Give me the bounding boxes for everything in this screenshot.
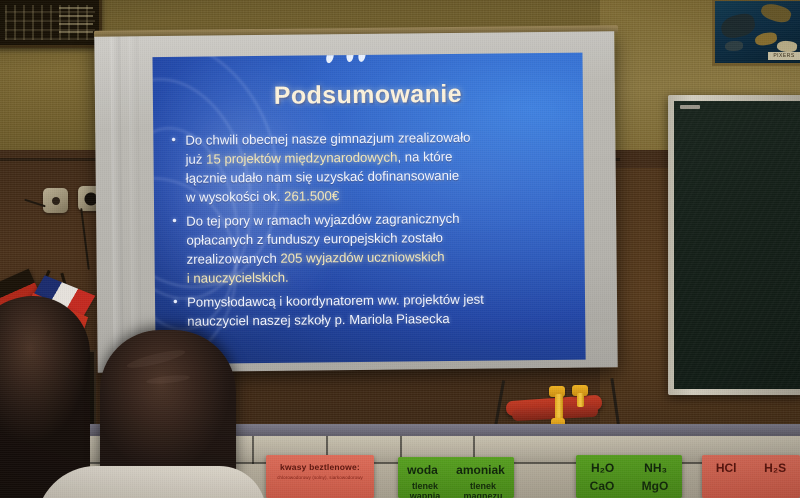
slide-plain-text: Do tej pory w ramach wyjazdów zagraniczn… <box>186 211 460 229</box>
poster-subheading: chlorowodorowy (solny), siarkowodorowy <box>266 472 374 480</box>
chalkboard-frame <box>668 95 800 395</box>
hair-highlight <box>146 374 190 386</box>
clamp-knob-stem <box>577 393 584 407</box>
slide-bullet-text: Do tej pory w ramach wyjazdów zagraniczn… <box>186 208 573 288</box>
person-head-left <box>0 296 90 498</box>
slide-highlight-text: i nauczycielskich. <box>187 270 289 286</box>
poster-compound-formulas: H₂O NH₃ CaO MgO <box>576 455 682 498</box>
projected-slide: Podsumowanie •Do chwili obecnej nasze gi… <box>152 53 585 364</box>
poster-row-2: CaO MgO <box>576 475 682 493</box>
slide-plain-text: już <box>185 152 206 167</box>
bullet-dot-icon: • <box>171 131 186 207</box>
bullet-dot-icon: • <box>173 293 187 331</box>
slide-highlight-text: 15 projektów międzynarodowych <box>206 150 397 167</box>
poster-row-1: HCl H₂S <box>702 455 800 475</box>
poster-cell: H₂S <box>764 461 786 475</box>
poster-cell: HCl <box>716 461 737 475</box>
poster-cell: tlenek magnezu <box>452 481 514 498</box>
slide-bullet-item: •Pomysłodawcą i koordynatorem ww. projek… <box>173 289 573 331</box>
periodic-table-board <box>0 0 102 48</box>
underwater-poster: PIXERS <box>712 0 800 66</box>
poster-acid-formulas: HCl H₂S <box>702 455 800 498</box>
slide-bullet-line: nauczyciel naszej szkoły p. Mariola Pias… <box>187 308 573 331</box>
poster-cell: woda <box>407 463 438 477</box>
poster-cell: tlenek wapnia <box>398 481 452 498</box>
fish-icon <box>719 12 757 41</box>
fish-icon <box>725 41 743 51</box>
poster-cell: CaO <box>590 479 615 493</box>
poster-row-1: woda amoniak <box>398 457 514 477</box>
slide-plain-text: Pomysłodawcą i koordynatorem ww. projekt… <box>187 292 484 310</box>
fish-icon <box>759 1 792 25</box>
slide-top-graphic <box>324 53 394 64</box>
slide-bullet-text: Do chwili obecnej nasze gimnazjum zreali… <box>185 127 572 207</box>
poster-heading: kwasy beztlenowe: <box>266 455 374 472</box>
hair-highlight <box>126 347 187 371</box>
poster-cell: H₂O <box>591 461 614 475</box>
poster-brand-label: PIXERS <box>768 52 800 60</box>
person-shoulder <box>36 466 266 498</box>
projection-screen: Podsumowanie •Do chwili obecnej nasze gi… <box>94 31 617 372</box>
slide-title: Podsumowanie <box>153 79 583 113</box>
slide-plain-text: zrealizowanych <box>187 251 281 267</box>
slide-bullet-line: i nauczycielskich. <box>187 265 573 288</box>
chalkboard-clip <box>680 105 700 109</box>
poster-row-2: tlenek wapnia tlenek magnezu <box>398 477 514 498</box>
poster-cell: amoniak <box>456 463 505 477</box>
slide-plain-text: łącznie udało nam się uzyskać dofinansow… <box>186 168 460 186</box>
wall-socket[interactable] <box>43 188 68 213</box>
slide-bullet-text: Pomysłodawcą i koordynatorem ww. projekt… <box>187 289 573 331</box>
slide-bullet-line: w wysokości ok. 261.500€ <box>186 184 572 207</box>
poster-compound-names: woda amoniak tlenek wapnia tlenek magnez… <box>398 457 514 498</box>
poster-cell: NH₃ <box>644 461 667 475</box>
slide-bullet-item: •Do chwili obecnej nasze gimnazjum zreal… <box>171 127 572 207</box>
chalkboard-surface <box>674 101 800 389</box>
screen-fabric-fold <box>110 36 124 372</box>
slide-highlight-text: 261.500€ <box>284 188 339 204</box>
poster-row-1: H₂O NH₃ <box>576 455 682 475</box>
poster-cell: MgO <box>642 479 669 493</box>
slide-bullet-item: •Do tej pory w ramach wyjazdów zagranicz… <box>172 208 573 288</box>
socket-hole <box>52 197 60 205</box>
counter-panel-divider <box>252 436 254 464</box>
fish-icon <box>754 32 777 47</box>
slide-plain-text: Do chwili obecnej nasze gimnazjum zreali… <box>185 130 470 148</box>
chalk-dust-texture <box>674 101 800 389</box>
slide-plain-text: opłacanych z funduszy europejskich zosta… <box>186 230 443 248</box>
slide-highlight-text: 205 wyjazdów uczniowskich <box>280 249 444 266</box>
slide-plain-text: w wysokości ok. <box>186 189 284 205</box>
board-grid-pattern-2 <box>59 7 93 33</box>
classroom-photo: PIXERS Podsumowanie •Do chwili obecnej n… <box>0 0 800 498</box>
slide-plain-text: nauczyciel naszej szkoły p. Mariola Pias… <box>187 311 450 329</box>
slide-plain-text: , na które <box>397 149 452 165</box>
poster-acids: kwasy beztlenowe: chlorowodorowy (solny)… <box>266 455 374 498</box>
bullet-dot-icon: • <box>172 212 187 288</box>
screen-fabric-fold <box>128 36 142 372</box>
slide-bullet-list: •Do chwili obecnej nasze gimnazjum zreal… <box>171 127 573 336</box>
